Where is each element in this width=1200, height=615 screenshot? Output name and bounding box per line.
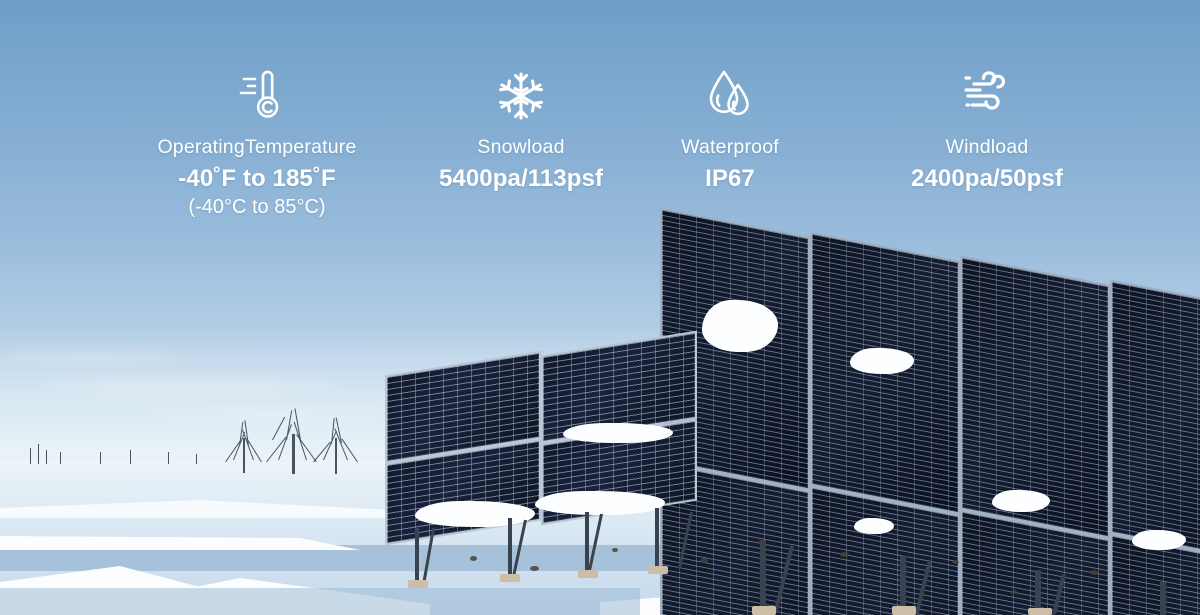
feature-operating-temperature: OperatingTemperature -40˚F to 185˚F (-40… (137, 68, 377, 219)
solar-panel (1110, 279, 1200, 562)
feature-value: -40˚F to 185˚F (137, 165, 377, 193)
solar-panel-feature-banner: OperatingTemperature -40˚F to 185˚F (-40… (0, 0, 1200, 615)
front-solar-array (385, 355, 725, 545)
snow-shadow-band (0, 588, 640, 615)
wind-icon (867, 68, 1107, 124)
thermometer-icon (137, 68, 377, 124)
feature-label: Windload (867, 136, 1107, 159)
feature-waterproof: Waterproof IP67 (630, 68, 830, 193)
feature-sub-value: (-40°C to 85°C) (137, 196, 377, 219)
feature-label: OperatingTemperature (137, 136, 377, 159)
snow-patch (1132, 530, 1186, 550)
snow-patch (563, 423, 673, 443)
snow-patch (535, 491, 665, 515)
snow-patch (850, 348, 914, 374)
snow-patch (854, 518, 894, 534)
snow-patch (702, 300, 778, 352)
feature-snowload: Snowload 5400pa/113psf (401, 68, 641, 193)
water-drop-icon (630, 68, 830, 124)
feature-value: IP67 (630, 165, 830, 193)
feature-windload: Windload 2400pa/50psf (867, 68, 1107, 193)
feature-label: Snowload (401, 136, 641, 159)
snowflake-icon (401, 68, 641, 124)
snow-patch (992, 490, 1050, 512)
feature-label: Waterproof (630, 136, 830, 159)
feature-value: 5400pa/113psf (401, 165, 641, 193)
snow-patch (415, 501, 535, 527)
feature-value: 2400pa/50psf (867, 165, 1107, 193)
bare-tree (305, 416, 369, 474)
feature-row: OperatingTemperature -40˚F to 185˚F (-40… (0, 0, 1200, 215)
